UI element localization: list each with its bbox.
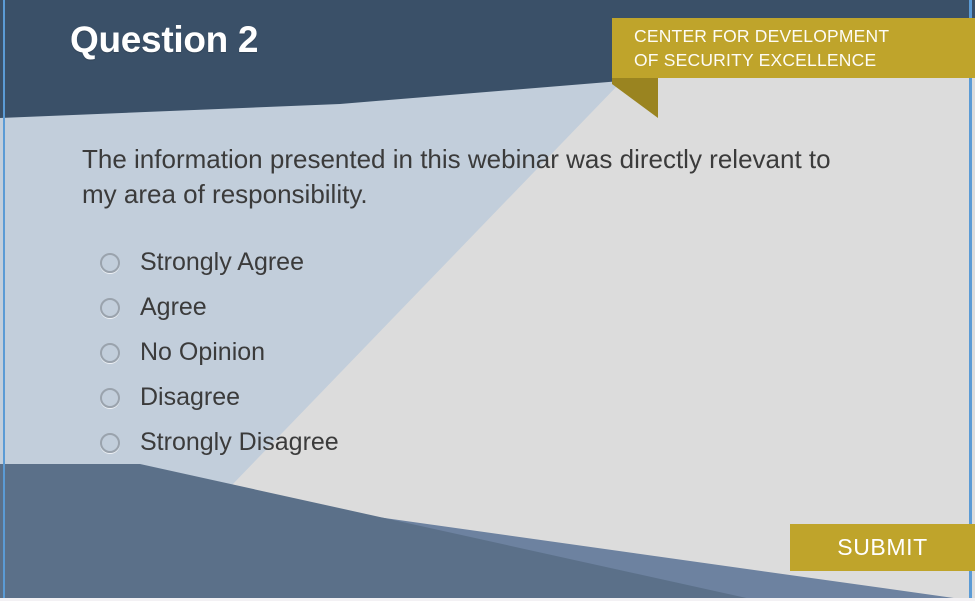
- option-label: Agree: [140, 295, 207, 320]
- left-accent-border: [3, 0, 5, 601]
- answer-options-list: Strongly Agree Agree No Opinion Disagree…: [100, 240, 620, 465]
- radio-button-icon[interactable]: [100, 433, 120, 453]
- option-label: No Opinion: [140, 340, 265, 365]
- option-label: Strongly Agree: [140, 250, 304, 275]
- option-label: Strongly Disagree: [140, 430, 339, 455]
- question-text: The information presented in this webina…: [82, 142, 872, 212]
- option-label: Disagree: [140, 385, 240, 410]
- option-agree[interactable]: Agree: [100, 285, 620, 330]
- radio-button-icon[interactable]: [100, 298, 120, 318]
- submit-button[interactable]: SUBMIT: [790, 524, 975, 571]
- option-disagree[interactable]: Disagree: [100, 375, 620, 420]
- radio-button-icon[interactable]: [100, 253, 120, 273]
- banner-ribbon-fold: [612, 78, 658, 118]
- banner-line-2: OF SECURITY EXCELLENCE: [634, 48, 975, 72]
- right-accent-border: [969, 0, 972, 601]
- radio-button-icon[interactable]: [100, 343, 120, 363]
- option-strongly-disagree[interactable]: Strongly Disagree: [100, 420, 620, 465]
- organization-banner: CENTER FOR DEVELOPMENT OF SECURITY EXCEL…: [612, 18, 975, 78]
- option-strongly-agree[interactable]: Strongly Agree: [100, 240, 620, 285]
- banner-line-1: CENTER FOR DEVELOPMENT: [634, 24, 975, 48]
- quiz-slide: Question 2 CENTER FOR DEVELOPMENT OF SEC…: [0, 0, 975, 601]
- option-no-opinion[interactable]: No Opinion: [100, 330, 620, 375]
- page-title: Question 2: [70, 19, 258, 62]
- radio-button-icon[interactable]: [100, 388, 120, 408]
